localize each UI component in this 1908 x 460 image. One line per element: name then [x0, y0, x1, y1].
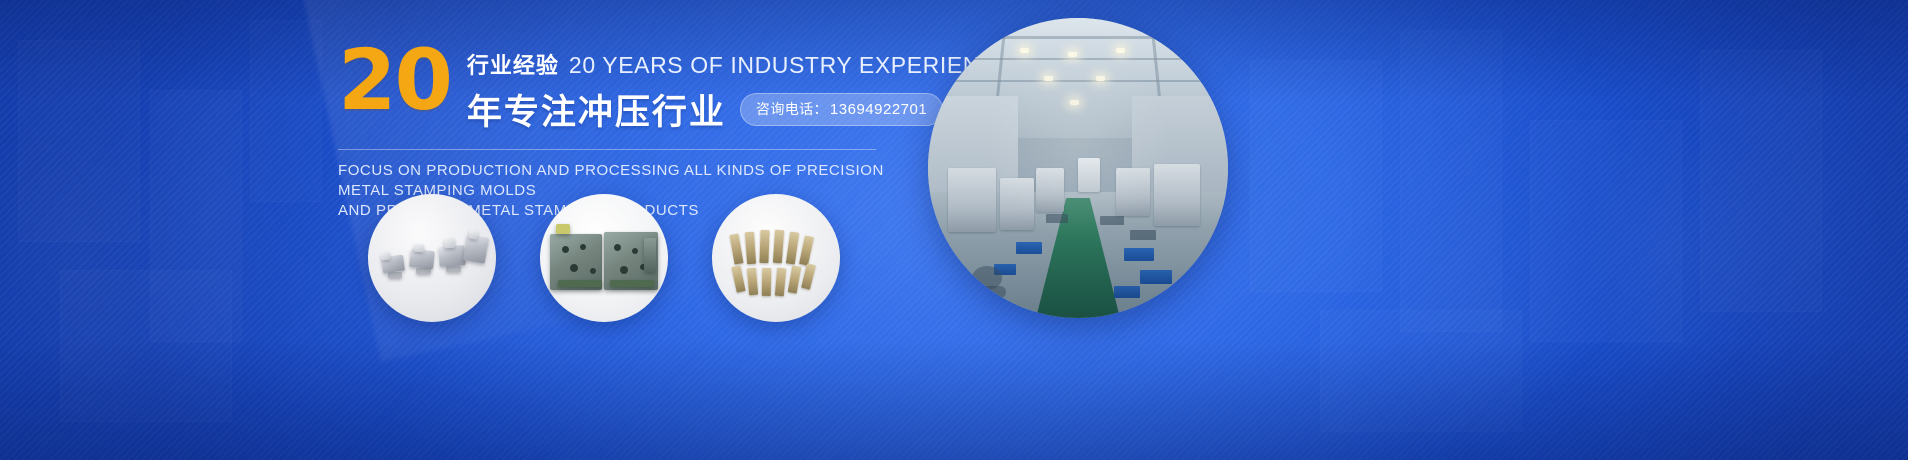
- banner-copy: 20 行业经验 20 YEARS OF INDUSTRY EXPERIENCE …: [338, 38, 890, 220]
- headline-row: 20 行业经验 20 YEARS OF INDUSTRY EXPERIENCE …: [338, 38, 890, 135]
- cn-tagline-big: 年专注冲压行业: [467, 84, 726, 135]
- product-circle-connectors: [368, 194, 496, 322]
- phone-label: 咨询电话：: [756, 99, 828, 119]
- product-circle-pins: [712, 194, 840, 322]
- promo-banner: 20 行业经验 20 YEARS OF INDUSTRY EXPERIENCE …: [0, 0, 1908, 460]
- product-circle-mold: [540, 194, 668, 322]
- years-number: 20: [338, 38, 451, 116]
- phone-number: 13694922701: [830, 101, 927, 118]
- factory-photo-shading: [928, 18, 1228, 318]
- divider-rule: [338, 149, 876, 150]
- phone-badge[interactable]: 咨询电话： 13694922701: [740, 93, 943, 126]
- factory-photo: [928, 18, 1228, 318]
- cn-tagline-small: 行业经验: [467, 48, 559, 80]
